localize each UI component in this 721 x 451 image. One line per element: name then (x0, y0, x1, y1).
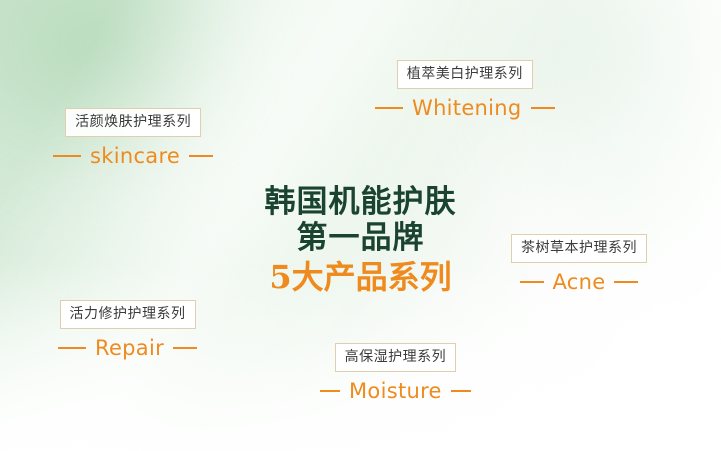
series-label-skincare[interactable]: 活颜焕肤护理系列 skincare (53, 108, 213, 167)
dash-right-icon (189, 155, 213, 157)
series-name-en-moisture: Moisture (349, 380, 442, 402)
headline-block: 韩国机能护肤 第一品牌 5大产品系列 (211, 184, 511, 297)
series-label-repair[interactable]: 活力修护护理系列 Repair (58, 300, 197, 359)
series-name-cn-moisture: 高保湿护理系列 (335, 343, 457, 372)
dash-right-icon (614, 281, 638, 283)
dash-left-icon (375, 107, 403, 109)
series-en-row-whitening: Whitening (375, 97, 555, 119)
series-en-row-moisture: Moisture (320, 380, 471, 402)
series-name-en-skincare: skincare (90, 145, 180, 167)
series-name-cn-acne: 茶树草本护理系列 (511, 234, 647, 263)
dash-right-icon (173, 347, 197, 349)
dash-left-icon (520, 281, 544, 283)
series-name-cn-repair: 活力修护护理系列 (60, 300, 196, 329)
series-name-en-whitening: Whitening (412, 97, 522, 119)
series-name-cn-whitening: 植萃美白护理系列 (397, 60, 533, 89)
series-en-row-repair: Repair (58, 337, 197, 359)
headline-line-3: 5大产品系列 (211, 257, 511, 297)
promo-banner: 韩国机能护肤 第一品牌 5大产品系列 植萃美白护理系列 Whitening 活颜… (0, 0, 721, 451)
dash-left-icon (320, 390, 340, 392)
series-name-en-acne: Acne (553, 271, 606, 293)
dash-left-icon (58, 347, 86, 349)
series-label-moisture[interactable]: 高保湿护理系列 Moisture (320, 343, 471, 402)
dash-left-icon (53, 155, 81, 157)
dash-right-icon (451, 390, 471, 392)
series-en-row-skincare: skincare (53, 145, 213, 167)
dash-right-icon (531, 107, 555, 109)
headline-line-2: 第一品牌 (211, 220, 511, 257)
series-label-acne[interactable]: 茶树草本护理系列 Acne (511, 234, 647, 293)
series-name-en-repair: Repair (95, 337, 164, 359)
series-label-whitening[interactable]: 植萃美白护理系列 Whitening (375, 60, 555, 119)
series-name-cn-skincare: 活颜焕肤护理系列 (65, 108, 201, 137)
series-en-row-acne: Acne (511, 271, 647, 293)
headline-line-1: 韩国机能护肤 (211, 184, 511, 220)
